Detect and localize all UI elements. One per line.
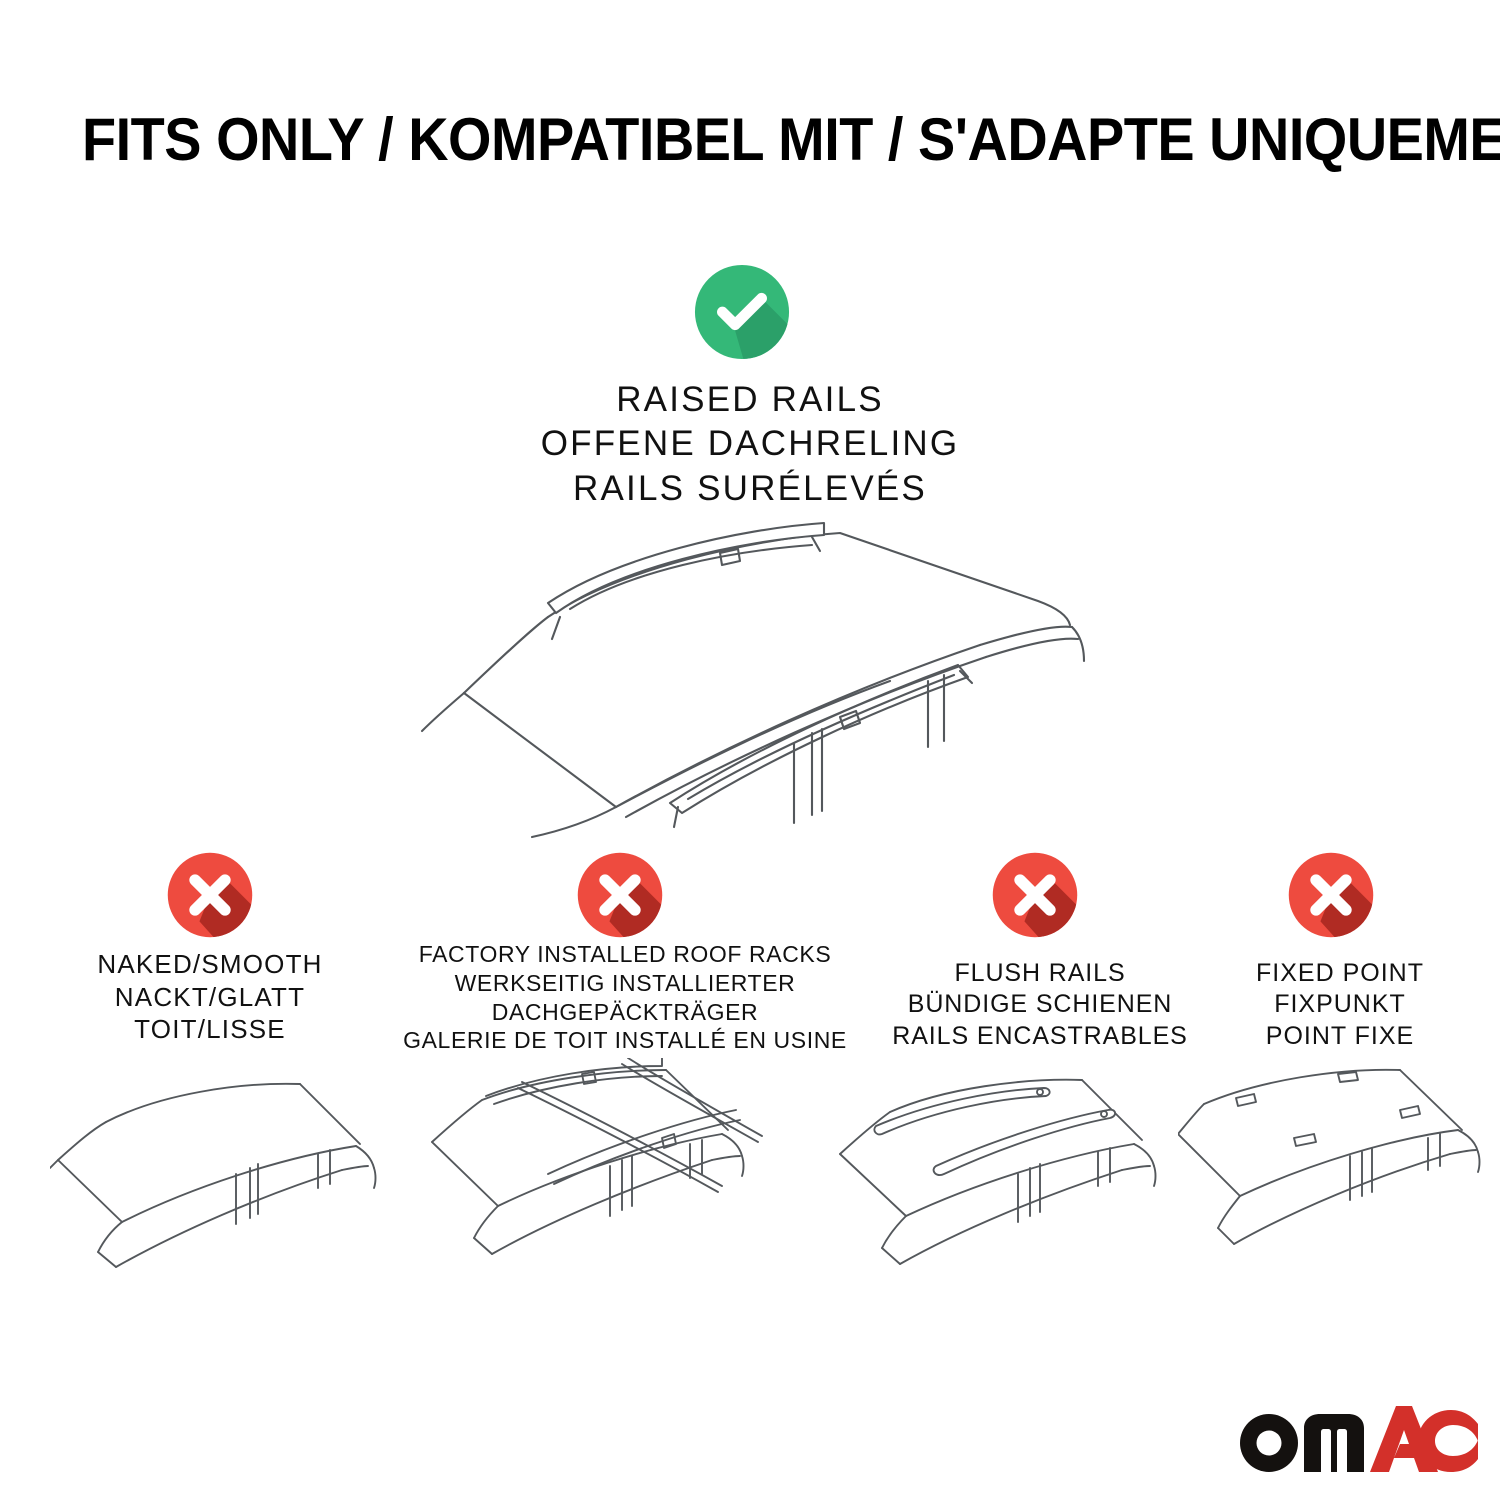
label-factory-roof-racks-en: FACTORY INSTALLED ROOF RACKS — [390, 940, 860, 969]
red-x-circle-icon-fixed-point — [1287, 851, 1375, 939]
illustration-naked-smooth — [50, 1062, 440, 1297]
compatible-label-de: OFFENE DACHRELING — [450, 422, 1050, 466]
label-naked-smooth-de: NACKT/GLATT — [30, 981, 390, 1014]
label-fixed-point-fr: POINT FIXE — [1215, 1021, 1465, 1052]
illustration-fixed-point — [1178, 1060, 1498, 1295]
red-x-circle-icon-factory-roof-racks — [576, 851, 664, 939]
red-x-circle-icon-flush-rails — [991, 851, 1079, 939]
green-check-circle-icon — [693, 263, 791, 361]
label-naked-smooth-en: NAKED/SMOOTH — [30, 948, 390, 981]
label-factory-roof-racks-de-2: DACHGEPÄCKTRÄGER — [390, 998, 860, 1027]
label-flush-rails-de: BÜNDIGE SCHIENEN — [855, 989, 1225, 1020]
red-x-circle-icon-naked-smooth — [166, 851, 254, 939]
label-naked-smooth-fr: TOIT/LISSE — [30, 1013, 390, 1046]
label-group-factory-roof-racks: FACTORY INSTALLED ROOF RACKS WERKSEITIG … — [390, 940, 860, 1055]
compatible-label-group: RAISED RAILS OFFENE DACHRELING RAILS SUR… — [450, 378, 1050, 511]
logo-letter-o — [1240, 1414, 1298, 1472]
omac-logo — [1236, 1404, 1478, 1476]
label-group-naked-smooth: NAKED/SMOOTH NACKT/GLATT TOIT/LISSE — [30, 948, 390, 1046]
illustration-flush-rails — [832, 1062, 1232, 1297]
logo-letter-m — [1304, 1414, 1364, 1472]
label-group-flush-rails: FLUSH RAILS BÜNDIGE SCHIENEN RAILS ENCAS… — [855, 958, 1225, 1052]
label-fixed-point-de: FIXPUNKT — [1215, 989, 1465, 1020]
label-factory-roof-racks-fr: GALERIE DE TOIT INSTALLÉ EN USINE — [390, 1026, 860, 1055]
label-fixed-point-en: FIXED POINT — [1215, 958, 1465, 989]
illustration-raised-rails — [420, 505, 1090, 845]
label-factory-roof-racks-de-1: WERKSEITIG INSTALLIERTER — [390, 969, 860, 998]
compatible-label-en: RAISED RAILS — [450, 378, 1050, 422]
label-flush-rails-en: FLUSH RAILS — [855, 958, 1225, 989]
page-title: FITS ONLY / KOMPATIBEL MIT / S'ADAPTE UN… — [82, 108, 1328, 171]
illustration-factory-roof-rack — [422, 1058, 822, 1298]
label-group-fixed-point: FIXED POINT FIXPUNKT POINT FIXE — [1215, 958, 1465, 1052]
label-flush-rails-fr: RAILS ENCASTRABLES — [855, 1021, 1225, 1052]
